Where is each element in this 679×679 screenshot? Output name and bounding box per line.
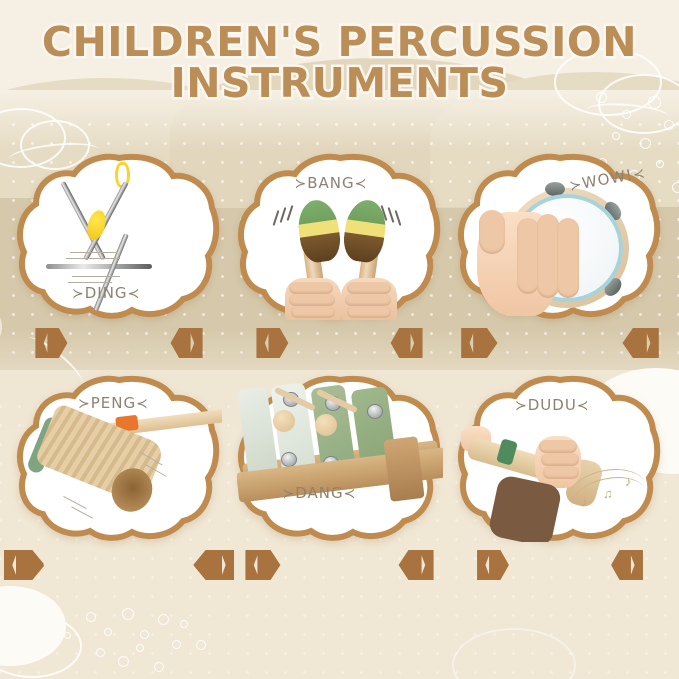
- artwork-xylophone: ≻DANG≺: [237, 374, 443, 542]
- tambourine-finger-3: [557, 218, 579, 298]
- sound-effect-xylophone: ≻DANG≺: [283, 484, 357, 502]
- decor-bubble: [122, 608, 134, 620]
- sound-effect-text: DUDU: [528, 396, 577, 414]
- maraca-left-head: [294, 198, 342, 265]
- card-clarinet[interactable]: ♪ ♫ ♪ ≻DUDU≺ CLARINET: [455, 374, 665, 580]
- card-label-maracas: MARACAS: [294, 334, 384, 352]
- sound-ray-left: ≻: [72, 286, 85, 302]
- finger-left-2: [289, 294, 335, 306]
- decor-bubble: [612, 132, 620, 140]
- decor-bubble: [118, 656, 129, 667]
- decor-bubble: [96, 648, 105, 657]
- cloud-frame-xylophone: ≻DANG≺: [237, 374, 443, 542]
- finger-left-1: [289, 282, 333, 294]
- tambourine-finger-2: [537, 214, 559, 298]
- sound-effect-text: BANG: [307, 174, 354, 192]
- triangle-beater: [84, 208, 109, 242]
- xylophone-mallet-head-2: [315, 414, 337, 436]
- cloud-frame-triangle: ≻DING≺: [16, 152, 222, 320]
- clarinet-finger-2: [541, 453, 579, 466]
- xylophone-nail-5: [367, 404, 383, 419]
- sound-ray-right: ≺: [632, 165, 647, 183]
- artwork-maracas: ≻BANG≺: [237, 152, 443, 320]
- wood-sounder-vibration-3: [63, 496, 86, 509]
- sound-effect-text: PENG: [91, 394, 136, 412]
- maracas-motion-left-2: [279, 207, 286, 223]
- artwork-clarinet: ♪ ♫ ♪ ≻DUDU≺: [457, 374, 663, 542]
- decor-bubble: [664, 120, 674, 130]
- tambourine-thumb: [479, 210, 505, 254]
- card-row-bottom: ≻PENG≺ WOOD SOUNDER: [0, 374, 679, 580]
- triangle-vibration-4: [68, 282, 112, 283]
- banner-clarinet: CLARINET: [455, 550, 665, 580]
- card-grid: ≻DING≺ TRIANGLE: [0, 152, 679, 580]
- poster-root: CHILDREN'S PERCUSSION INSTRUMENTS: [0, 0, 679, 679]
- finger-right-2: [345, 294, 391, 306]
- tambourine-finger-1: [517, 218, 539, 294]
- sound-effect-maracas: ≻BANG≺: [295, 174, 368, 192]
- finger-left-3: [291, 306, 335, 318]
- triangle-bottom-bar: [46, 264, 152, 269]
- card-wood-sounder[interactable]: ≻PENG≺ WOOD SOUNDER: [14, 374, 224, 580]
- banner-xylophone: XYLOPHONE: [235, 550, 445, 580]
- clarinet-music-note-1: ♪: [581, 494, 588, 509]
- xylophone-frame-side: [383, 436, 424, 502]
- finger-right-1: [347, 282, 391, 294]
- clarinet-finger-3: [543, 466, 579, 479]
- sound-effect-triangle: ≻DING≺: [72, 284, 140, 302]
- card-maracas[interactable]: ≻BANG≺ MARACAS: [235, 152, 445, 358]
- artwork-tambourine: ≻WOW!≺: [457, 152, 663, 320]
- decor-bubble: [180, 620, 188, 628]
- card-row-top: ≻DING≺ TRIANGLE: [0, 152, 679, 358]
- decor-bubble: [640, 138, 651, 149]
- decor-bubble: [86, 612, 96, 622]
- maracas-motion-right-1: [394, 210, 401, 226]
- sound-effect-text: DANG: [295, 484, 343, 502]
- decor-bubble: [172, 640, 181, 649]
- wood-sounder-vibration-4: [71, 506, 93, 518]
- card-label-wood-sounder: WOOD SOUNDER: [42, 556, 196, 574]
- sound-ray-right: ≺: [355, 176, 368, 192]
- triangle-vibration-2: [66, 258, 120, 259]
- cloud-frame-wood-sounder: ≻PENG≺: [16, 374, 222, 542]
- clarinet-finger-1: [539, 440, 577, 453]
- maracas-motion-left-3: [286, 205, 293, 221]
- sound-effect-clarinet: ≻DUDU≺: [515, 396, 590, 414]
- card-label-xylophone: XYLOPHONE: [283, 556, 395, 574]
- decor-bubble: [140, 630, 149, 639]
- sound-ray-right: ≺: [136, 396, 149, 412]
- sound-effect-wood-sounder: ≻PENG≺: [78, 394, 149, 412]
- finger-right-3: [347, 306, 391, 318]
- card-label-clarinet: CLARINET: [515, 556, 605, 574]
- page-title: CHILDREN'S PERCUSSION INSTRUMENTS: [0, 22, 679, 104]
- cloud-frame-clarinet: ♪ ♫ ♪ ≻DUDU≺: [457, 374, 663, 542]
- decor-bubble: [104, 628, 112, 636]
- sound-ray-right: ≺: [128, 286, 141, 302]
- decor-bubble: [154, 662, 164, 672]
- banner-tambourine: TAMBOURINE: [455, 328, 665, 358]
- banner-wood-sounder: WOOD SOUNDER: [14, 550, 224, 580]
- xylophone-mallet-head-1: [273, 410, 295, 432]
- sound-ray-left: ≻: [283, 486, 296, 502]
- sound-ray-left: ≻: [295, 176, 308, 192]
- artwork-triangle: ≻DING≺: [16, 152, 222, 320]
- banner-triangle: TRIANGLE: [14, 328, 224, 358]
- card-xylophone[interactable]: ≻DANG≺ XYLOPHONE: [235, 374, 445, 580]
- sound-ray-left: ≻: [78, 396, 91, 412]
- decor-bubble: [622, 110, 631, 119]
- maracas-motion-left-1: [272, 210, 279, 226]
- artwork-wood-sounder: ≻PENG≺: [16, 374, 222, 542]
- banner-maracas: MARACAS: [235, 328, 445, 358]
- card-label-triangle: TRIANGLE: [73, 334, 164, 352]
- clarinet-child-arm: [487, 474, 562, 542]
- card-triangle[interactable]: ≻DING≺ TRIANGLE: [14, 152, 224, 358]
- sound-ray-right: ≺: [577, 398, 590, 414]
- triangle-vibration-3: [72, 276, 120, 277]
- cloud-frame-maracas: ≻BANG≺: [237, 152, 443, 320]
- page-title-line2: INSTRUMENTS: [0, 63, 679, 104]
- maraca-right-head: [340, 198, 388, 265]
- decor-bubble: [196, 640, 206, 650]
- decor-bubble: [64, 632, 71, 639]
- clarinet-music-note-3: ♪: [625, 474, 632, 489]
- sound-ray-right: ≺: [344, 486, 357, 502]
- clarinet-music-note-2: ♫: [603, 486, 613, 501]
- sound-ray-left: ≻: [515, 398, 528, 414]
- sound-effect-text: DING: [85, 284, 128, 302]
- card-label-tambourine: TAMBOURINE: [499, 334, 621, 352]
- card-tambourine[interactable]: ≻WOW!≺ TAMBOURINE: [455, 152, 665, 358]
- decor-bubble: [158, 614, 169, 625]
- triangle-vibration-1: [70, 252, 116, 253]
- decor-bubble: [136, 644, 144, 652]
- cloud-frame-tambourine: ≻WOW!≺: [457, 152, 663, 320]
